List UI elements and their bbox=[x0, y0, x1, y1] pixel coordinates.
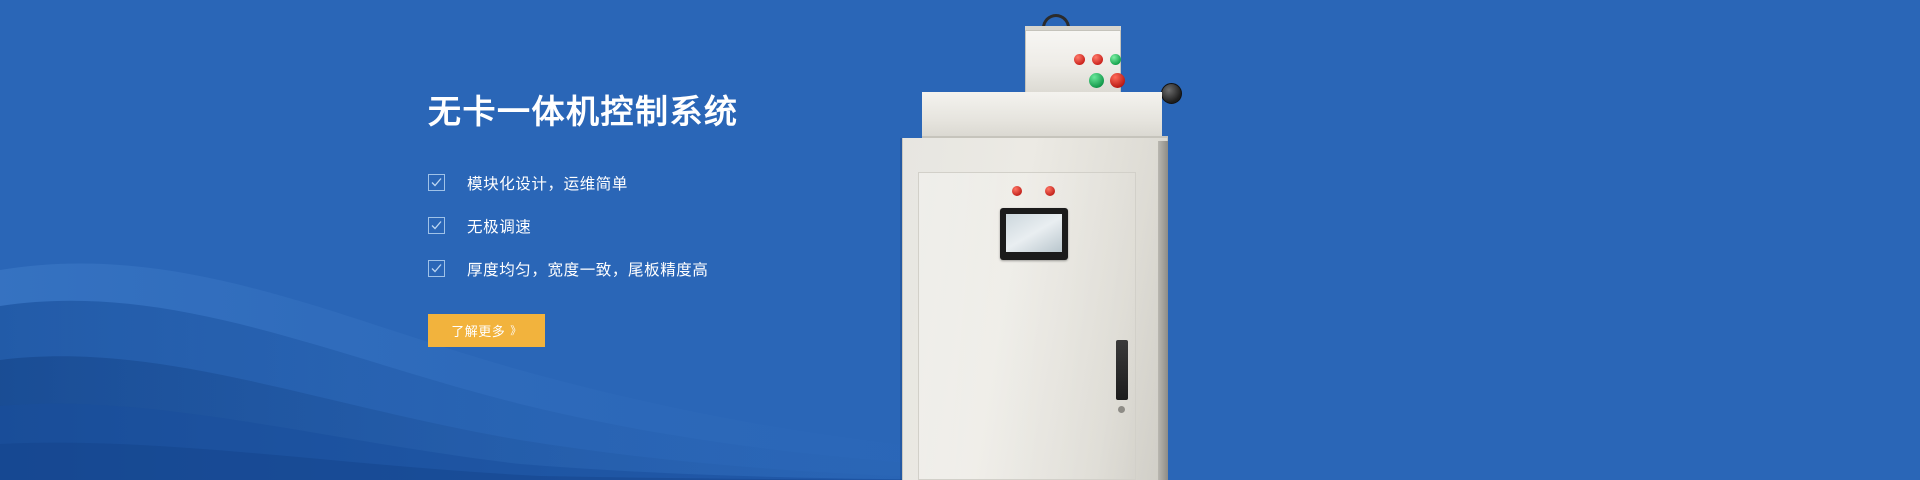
top-control-panel bbox=[1025, 30, 1121, 94]
touchscreen-display bbox=[1000, 208, 1068, 260]
hero-banner: 无卡一体机控制系统 模块化设计，运维简单 无极调速 bbox=[0, 0, 1920, 480]
checkbox-check-icon bbox=[428, 260, 445, 277]
learn-more-button[interactable]: 了解更多 》 bbox=[428, 314, 545, 347]
list-item: 无极调速 bbox=[428, 215, 988, 237]
push-button-red bbox=[1110, 73, 1125, 88]
indicator-lamp-red-2 bbox=[1092, 54, 1103, 65]
feature-label: 无极调速 bbox=[467, 215, 531, 237]
feature-list: 模块化设计，运维简单 无极调速 厚度均匀，宽度一致，尾板精度高 bbox=[428, 172, 988, 280]
feature-label: 厚度均匀，宽度一致，尾板精度高 bbox=[467, 258, 709, 280]
door-indicator-lamp-red-2 bbox=[1045, 186, 1055, 196]
indicator-lamp-red-1 bbox=[1074, 54, 1085, 65]
learn-more-label: 了解更多 bbox=[451, 321, 505, 340]
push-button-green bbox=[1089, 73, 1104, 88]
hero-content: 无卡一体机控制系统 模块化设计，运维简单 无极调速 bbox=[428, 92, 988, 347]
list-item: 模块化设计，运维简单 bbox=[428, 172, 988, 194]
checkbox-check-icon bbox=[428, 174, 445, 191]
cabinet-right-side-panel bbox=[1158, 141, 1168, 480]
selector-knob bbox=[1161, 83, 1182, 104]
cabinet-handle bbox=[1116, 340, 1128, 400]
door-indicator-lamp-red-1 bbox=[1012, 186, 1022, 196]
touchscreen-screen bbox=[1006, 214, 1062, 252]
feature-label: 模块化设计，运维简单 bbox=[467, 172, 628, 194]
list-item: 厚度均匀，宽度一致，尾板精度高 bbox=[428, 258, 988, 280]
page-title: 无卡一体机控制系统 bbox=[428, 92, 988, 132]
cabinet-lock-dot bbox=[1118, 406, 1125, 413]
chevron-right-icon: 》 bbox=[510, 322, 522, 338]
indicator-lamp-green-1 bbox=[1110, 54, 1121, 65]
checkbox-check-icon bbox=[428, 217, 445, 234]
